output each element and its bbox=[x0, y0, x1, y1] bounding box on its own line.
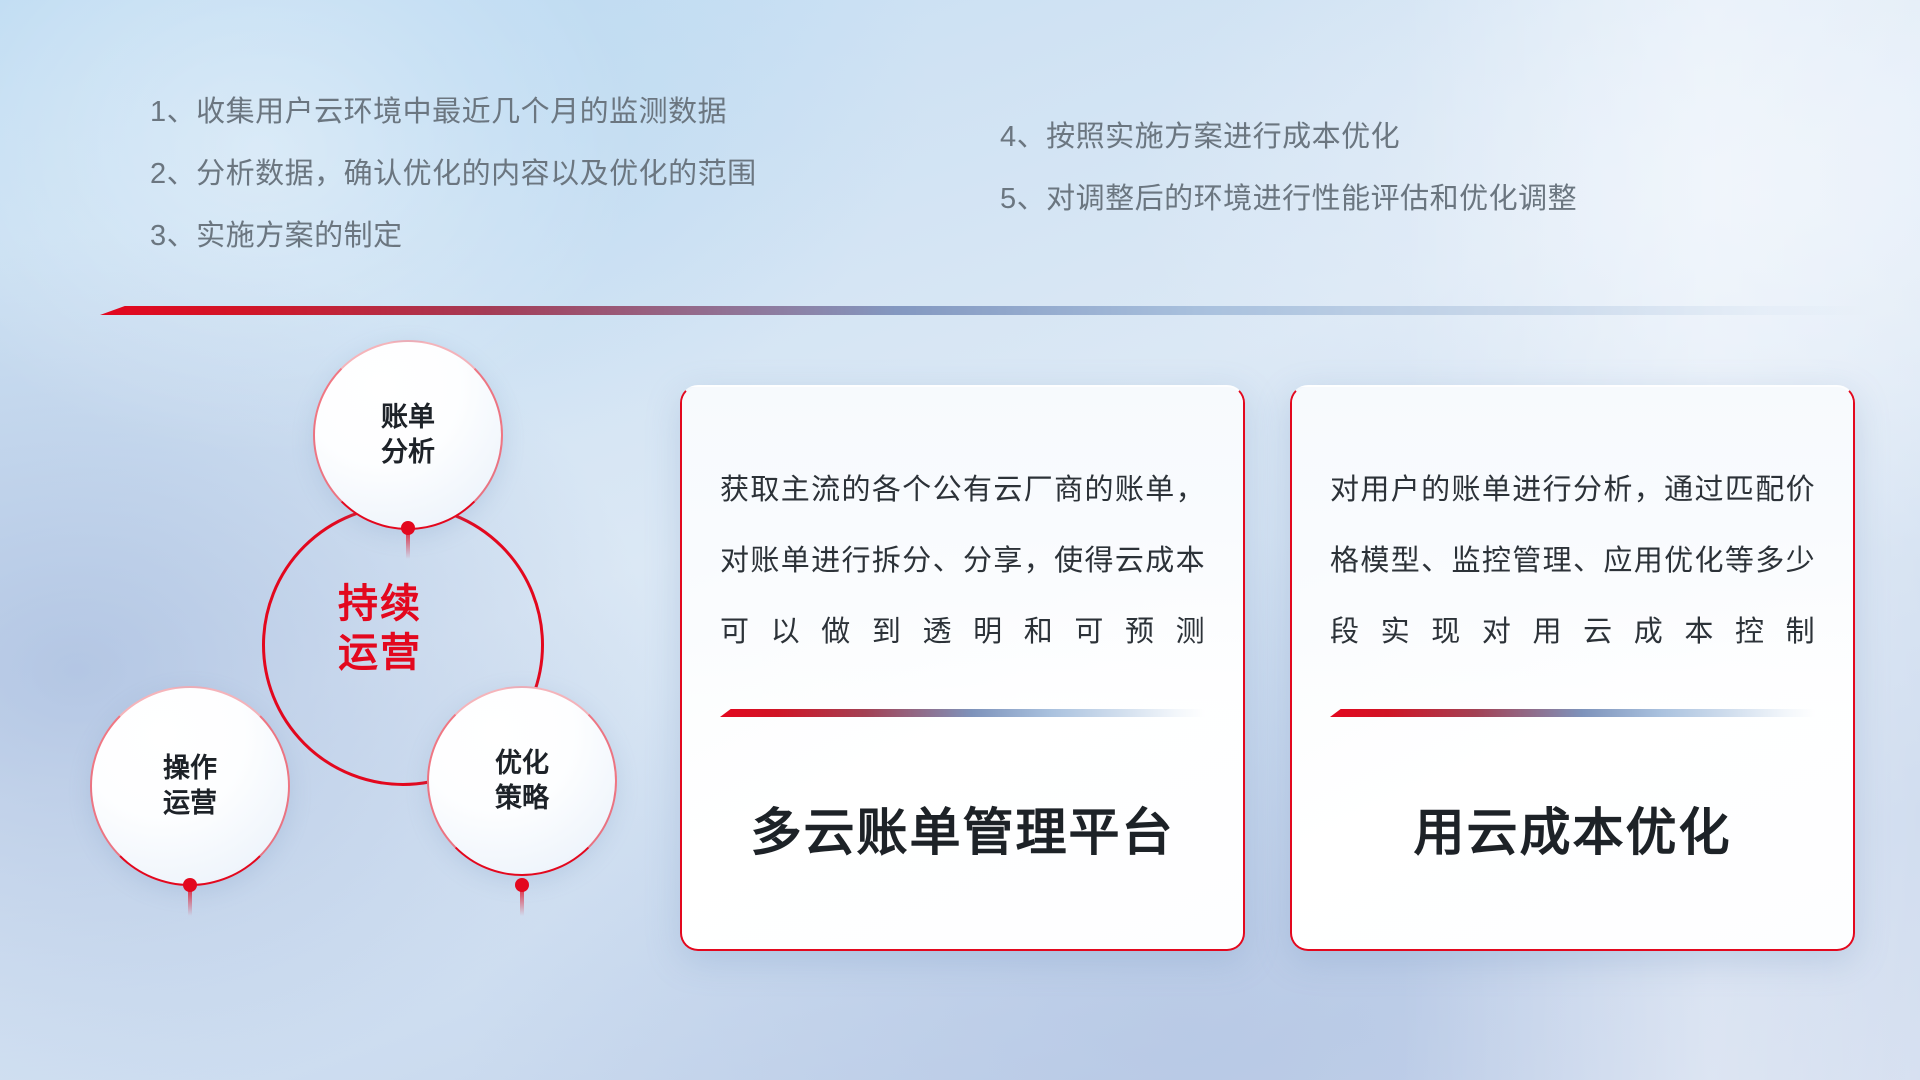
section-divider-bar bbox=[100, 306, 1870, 315]
node-label-line-1: 操作 bbox=[163, 751, 217, 786]
diagram-node-operations[interactable]: 操作 运营 bbox=[90, 686, 290, 886]
diagram-marker-dot-right bbox=[515, 878, 529, 892]
node-label-line-1: 账单 bbox=[381, 400, 435, 435]
center-label-line-2: 运营 bbox=[90, 629, 670, 678]
card-content: 对用户的账单进行分析，通过匹配价格模型、监控管理、应用优化等多少段实现对用云成本… bbox=[1292, 387, 1853, 949]
card-divider-bar bbox=[720, 709, 1205, 717]
center-label-line-1: 持续 bbox=[90, 580, 670, 629]
feature-card-cloud-cost-optimization[interactable]: 对用户的账单进行分析，通过匹配价格模型、监控管理、应用优化等多少段实现对用云成本… bbox=[1290, 385, 1855, 951]
step-item-1: 1、收集用户云环境中最近几个月的监测数据 bbox=[150, 98, 757, 127]
card-divider bbox=[720, 709, 1205, 717]
node-label-line-1: 优化 bbox=[495, 746, 549, 781]
step-item-5: 5、对调整后的环境进行性能评估和优化调整 bbox=[1000, 185, 1577, 214]
step-item-2: 2、分析数据，确认优化的内容以及优化的范围 bbox=[150, 160, 757, 189]
node-label-line-2: 运营 bbox=[163, 786, 217, 821]
card-title: 用云成本优化 bbox=[1330, 791, 1815, 865]
diagram-marker-dot-top bbox=[401, 521, 415, 535]
step-item-4: 4、按照实施方案进行成本优化 bbox=[1000, 123, 1577, 152]
diagram-marker-dot-left bbox=[183, 878, 197, 892]
node-label-line-2: 策略 bbox=[495, 781, 549, 816]
continuous-operation-diagram: 持续 运营 账单 分析 操作 运营 优化 策略 bbox=[90, 340, 670, 980]
diagram-node-optimization-strategy[interactable]: 优化 策略 bbox=[427, 686, 617, 876]
diagram-center-label: 持续 运营 bbox=[90, 580, 670, 678]
card-divider-bar bbox=[1330, 709, 1815, 717]
steps-list-right: 4、按照实施方案进行成本优化 5、对调整后的环境进行性能评估和优化调整 bbox=[1000, 123, 1577, 247]
card-divider bbox=[1330, 709, 1815, 717]
feature-card-multicloud-billing[interactable]: 获取主流的各个公有云厂商的账单，对账单进行拆分、分享，使得云成本可以做到透明和可… bbox=[680, 385, 1245, 951]
slide-canvas: 1、收集用户云环境中最近几个月的监测数据 2、分析数据，确认优化的内容以及优化的… bbox=[0, 0, 1920, 1080]
card-description: 获取主流的各个公有云厂商的账单，对账单进行拆分、分享，使得云成本可以做到透明和可… bbox=[720, 455, 1205, 668]
card-title: 多云账单管理平台 bbox=[720, 791, 1205, 865]
diagram-node-bill-analysis[interactable]: 账单 分析 bbox=[313, 340, 503, 530]
step-item-3: 3、实施方案的制定 bbox=[150, 222, 757, 251]
steps-list-left: 1、收集用户云环境中最近几个月的监测数据 2、分析数据，确认优化的内容以及优化的… bbox=[150, 98, 757, 284]
node-label-line-2: 分析 bbox=[381, 435, 435, 470]
section-divider bbox=[100, 306, 1870, 315]
card-description: 对用户的账单进行分析，通过匹配价格模型、监控管理、应用优化等多少段实现对用云成本… bbox=[1330, 455, 1815, 668]
card-content: 获取主流的各个公有云厂商的账单，对账单进行拆分、分享，使得云成本可以做到透明和可… bbox=[682, 387, 1243, 949]
